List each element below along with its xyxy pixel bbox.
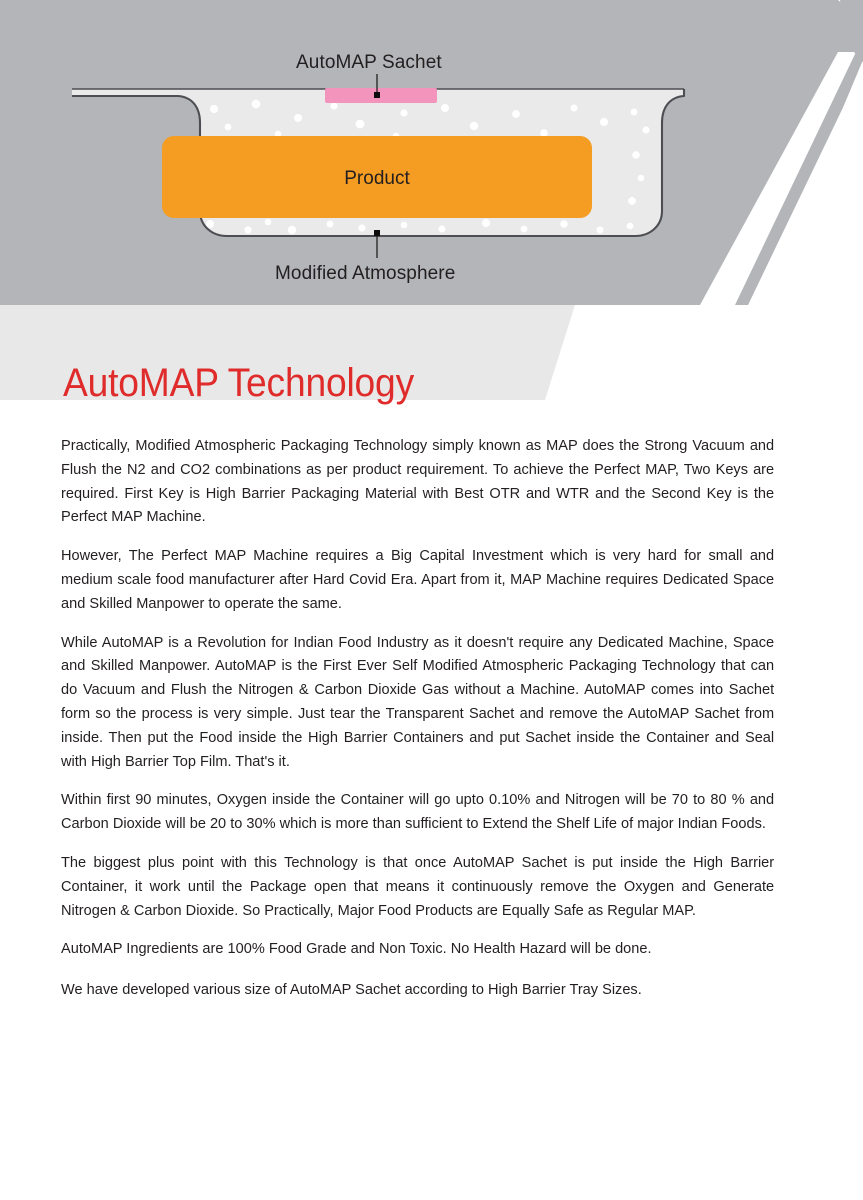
sachet-leader-marker [374,92,380,98]
paragraph-2: However, The Perfect MAP Machine require… [61,544,774,615]
paragraph-4: Within first 90 minutes, Oxygen inside t… [61,788,774,836]
page-title: AutoMAP Technology [63,361,414,406]
modified-atmosphere-label: Modified Atmosphere [275,263,455,285]
paragraph-7: We have developed various size of AutoMA… [61,978,774,1002]
sachet-label: AutoMAP Sachet [296,52,442,74]
article-body: Practically, Modified Atmospheric Packag… [61,434,800,1002]
atmosphere-leader-marker [374,230,380,236]
paragraph-3: While AutoMAP is a Revolution for Indian… [61,631,774,774]
paragraph-5: The biggest plus point with this Technol… [61,851,774,922]
product-label: Product [162,168,592,190]
paragraph-6: AutoMAP Ingredients are 100% Food Grade … [61,937,774,961]
automap-sachet-shape [325,88,437,103]
paragraph-1: Practically, Modified Atmospheric Packag… [61,434,774,529]
hero-diagram-section: AutoMAP Sachet Modified Atmosphere Produ… [0,0,863,310]
